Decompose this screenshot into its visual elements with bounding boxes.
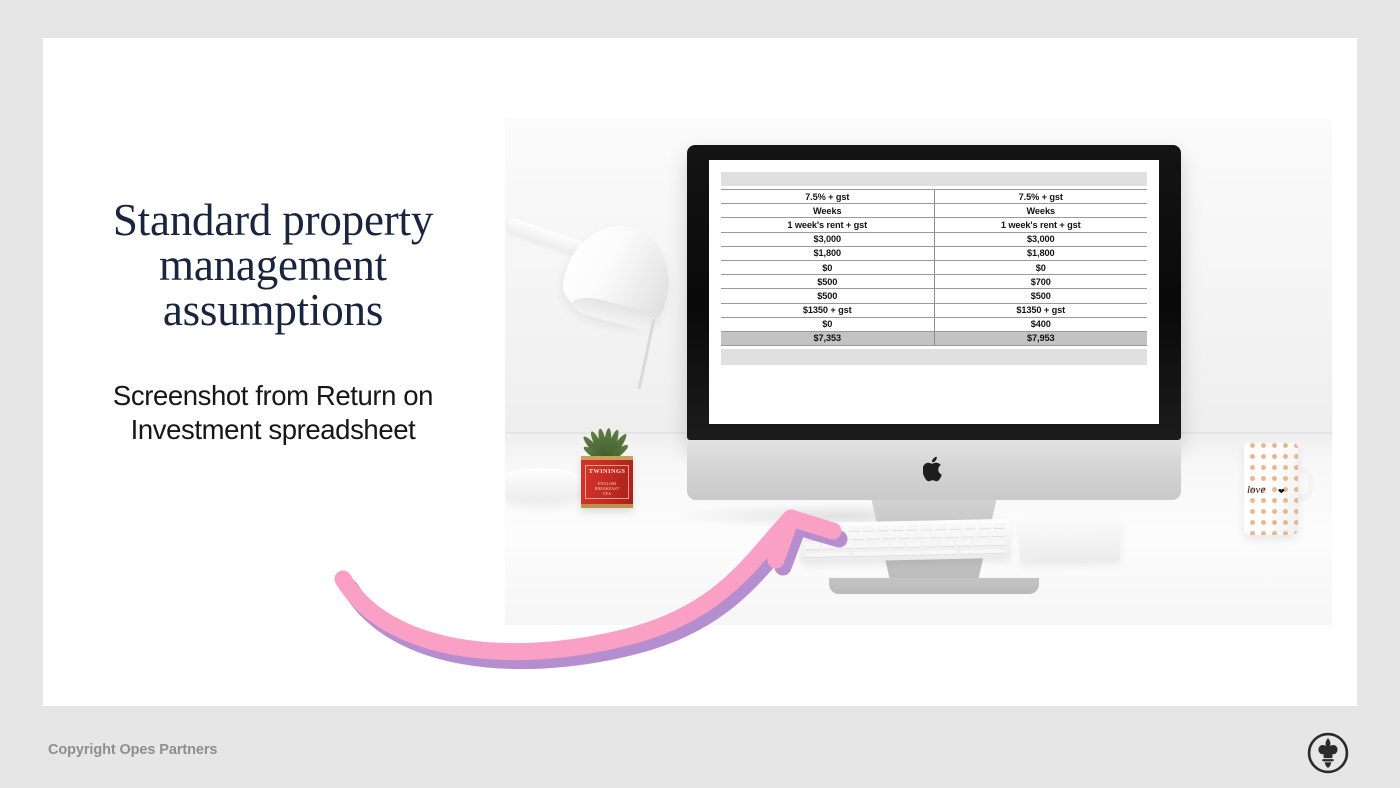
apple-trackpad-icon[interactable] xyxy=(1020,517,1121,562)
polka-dot-mug: love ❤ xyxy=(1240,443,1310,539)
page-title: Standard property management assumptions xyxy=(43,198,503,333)
spreadsheet-footer-band xyxy=(721,349,1147,365)
table-row[interactable]: WeeksWeeks xyxy=(721,204,1147,218)
table-cell-b[interactable]: 7.5% + gst xyxy=(934,190,1147,204)
table-cell-a[interactable]: $1,800 xyxy=(721,246,934,260)
table-row[interactable]: 7.5% + gst7.5% + gst xyxy=(721,190,1147,204)
table-cell-a[interactable]: Weeks xyxy=(721,204,934,218)
table-row[interactable]: $1,800$1,800 xyxy=(721,246,1147,260)
slide-root: Standard property management assumptions… xyxy=(0,0,1400,788)
apple-logo-icon xyxy=(923,456,945,482)
table-cell-b[interactable]: 1 week's rent + gst xyxy=(934,218,1147,232)
imac-bezel: 7.5% + gst7.5% + gstWeeksWeeks1 week's r… xyxy=(687,145,1181,440)
table-cell-b[interactable]: $3,000 xyxy=(934,232,1147,246)
slide-card: Standard property management assumptions… xyxy=(43,38,1357,706)
keyboard-keys xyxy=(805,523,1006,558)
tea-tin-brand: TWININGS xyxy=(581,468,633,475)
table-cell-a[interactable]: 7.5% + gst xyxy=(721,190,934,204)
twinings-tea-tin: TWININGS ENGLISH BREAKFAST TEA xyxy=(581,456,633,508)
table-cell-b[interactable]: $1350 + gst xyxy=(934,303,1147,317)
desk-photo: 7.5% + gst7.5% + gstWeeksWeeks1 week's r… xyxy=(505,118,1332,625)
text-column: Standard property management assumptions… xyxy=(43,198,503,447)
imac-stand-foot xyxy=(829,578,1039,594)
spreadsheet-header-band xyxy=(721,172,1147,186)
table-cell-a[interactable]: $0 xyxy=(721,260,934,274)
table-row[interactable]: $7,353$7,953 xyxy=(721,331,1147,345)
table-row[interactable]: $0$400 xyxy=(721,317,1147,331)
table-cell-a[interactable]: $0 xyxy=(721,317,934,331)
table-cell-b[interactable]: $400 xyxy=(934,317,1147,331)
apple-keyboard-icon[interactable] xyxy=(800,519,1011,562)
slide-subtitle: Screenshot from Return on Investment spr… xyxy=(43,379,503,447)
copyright-text: Copyright Opes Partners xyxy=(48,742,217,758)
spreadsheet-table[interactable]: 7.5% + gst7.5% + gstWeeksWeeks1 week's r… xyxy=(721,189,1147,346)
tea-tin-line3: TEA xyxy=(581,491,633,496)
table-cell-b[interactable]: Weeks xyxy=(934,204,1147,218)
table-cell-b[interactable]: $700 xyxy=(934,275,1147,289)
keyboard-row xyxy=(805,548,1005,558)
table-cell-a[interactable]: $1350 + gst xyxy=(721,303,934,317)
table-cell-a[interactable]: $500 xyxy=(721,275,934,289)
mug-love-text: love xyxy=(1247,484,1265,496)
table-cell-b[interactable]: $1,800 xyxy=(934,246,1147,260)
table-row[interactable]: $1350 + gst$1350 + gst xyxy=(721,303,1147,317)
succulent-plant-icon: TWININGS ENGLISH BREAKFAST TEA xyxy=(573,393,639,508)
imac-chin xyxy=(687,440,1181,500)
table-cell-b[interactable]: $500 xyxy=(934,289,1147,303)
table-cell-a[interactable]: $3,000 xyxy=(721,232,934,246)
table-row[interactable]: $500$700 xyxy=(721,275,1147,289)
table-cell-a[interactable]: $7,353 xyxy=(721,331,934,345)
fleur-de-lis-logo-icon xyxy=(1306,731,1350,775)
table-cell-b[interactable]: $7,953 xyxy=(934,331,1147,345)
table-cell-a[interactable]: 1 week's rent + gst xyxy=(721,218,934,232)
table-cell-a[interactable]: $500 xyxy=(721,289,934,303)
table-row[interactable]: $0$0 xyxy=(721,260,1147,274)
heart-icon: ❤ xyxy=(1278,487,1285,496)
table-cell-b[interactable]: $0 xyxy=(934,260,1147,274)
table-row[interactable]: $3,000$3,000 xyxy=(721,232,1147,246)
table-row[interactable]: 1 week's rent + gst1 week's rent + gst xyxy=(721,218,1147,232)
imac-screen[interactable]: 7.5% + gst7.5% + gstWeeksWeeks1 week's r… xyxy=(709,160,1159,424)
spreadsheet[interactable]: 7.5% + gst7.5% + gstWeeksWeeks1 week's r… xyxy=(709,160,1159,424)
table-row[interactable]: $500$500 xyxy=(721,289,1147,303)
